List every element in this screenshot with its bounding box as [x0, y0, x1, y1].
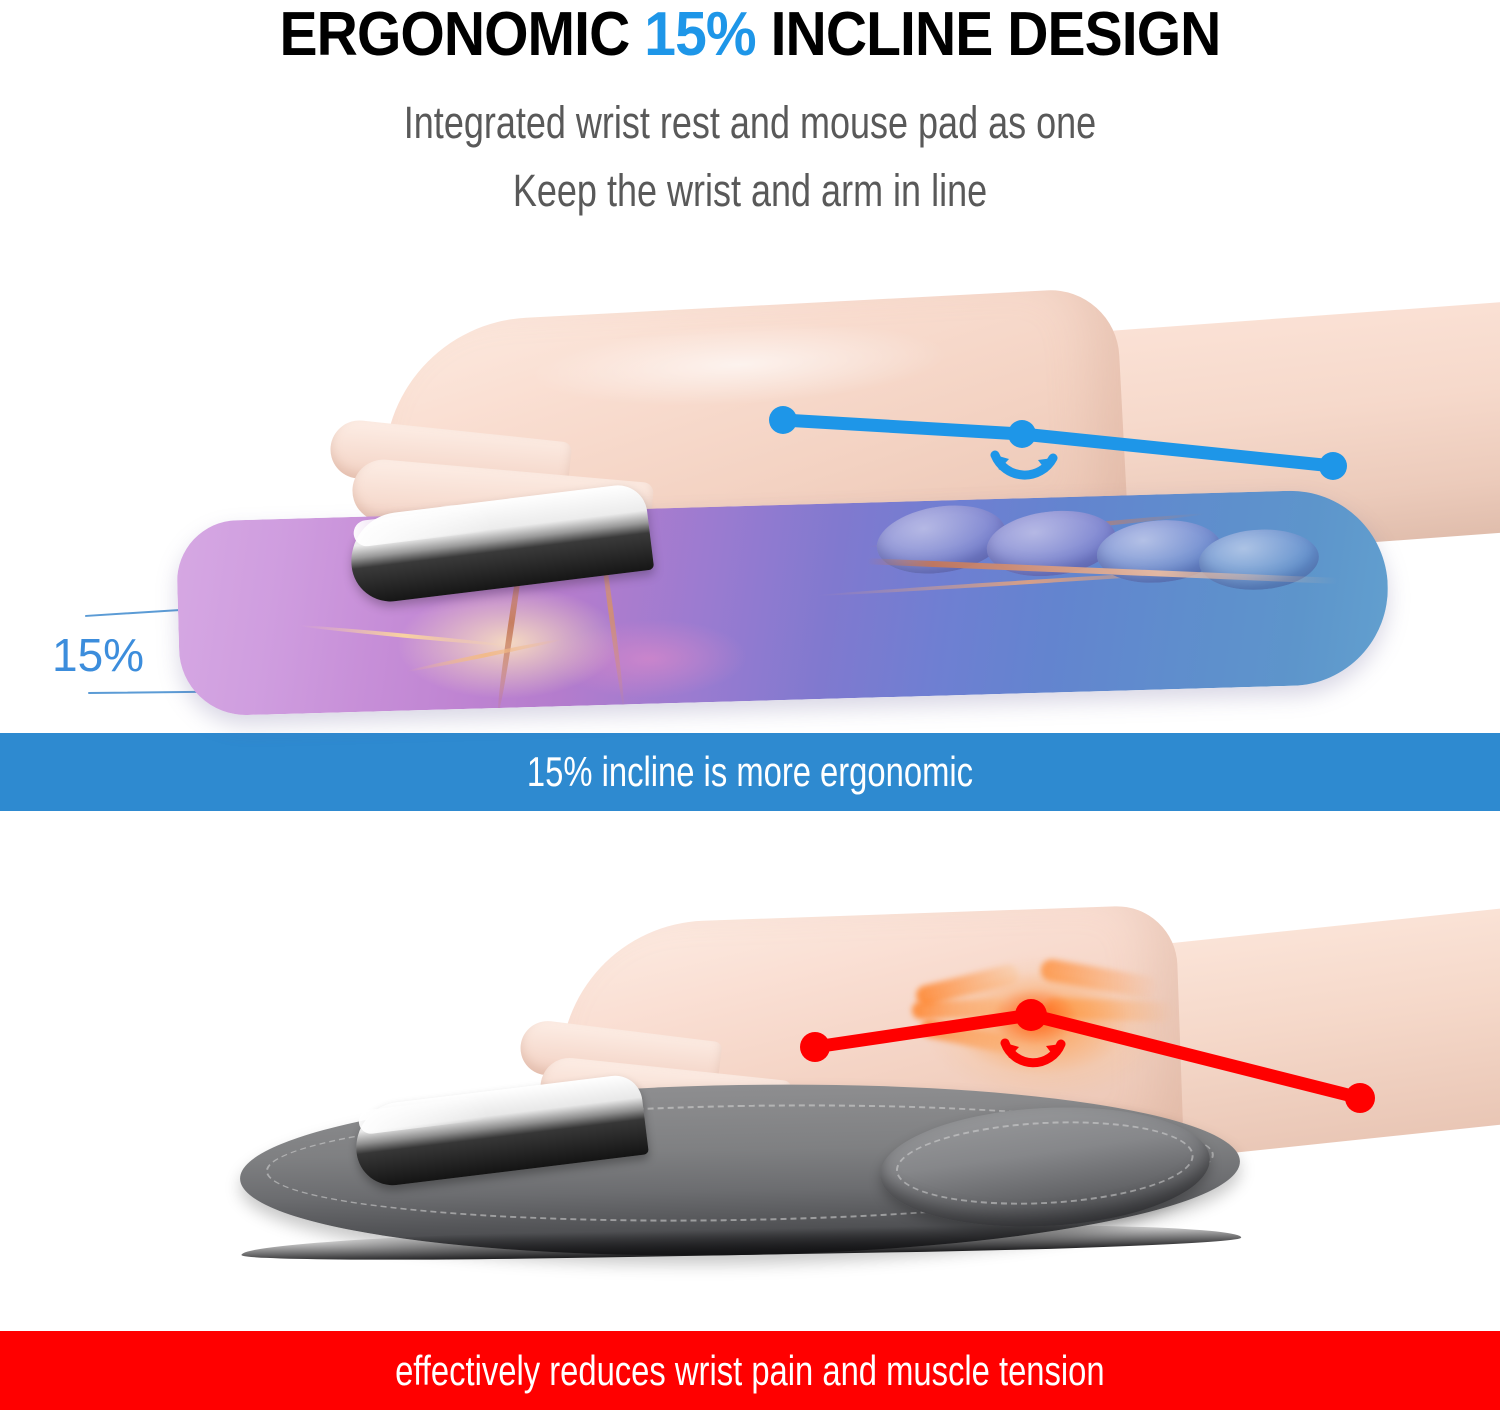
caption-banner-ergonomic: 15% incline is more ergonomic — [0, 733, 1500, 811]
caption-banner-pain: effectively reduces wrist pain and muscl… — [0, 1331, 1500, 1410]
caption-text-pain: effectively reduces wrist pain and muscl… — [395, 1347, 1105, 1395]
subtitle-line-1: Integrated wrist rest and mouse pad as o… — [150, 97, 1350, 149]
pain-ray — [912, 998, 1008, 1019]
headline-post: INCLINE DESIGN — [756, 0, 1221, 69]
product-infographic: ERGONOMIC 15% INCLINE DESIGN Integrated … — [0, 0, 1500, 1410]
incline-label: 15% — [52, 628, 144, 682]
headline-pre: ERGONOMIC — [280, 0, 645, 69]
subtitle-line-2: Keep the wrist and arm in line — [150, 165, 1350, 217]
header: ERGONOMIC 15% INCLINE DESIGN Integrated … — [0, 0, 1500, 240]
headline-accent: 15% — [644, 0, 755, 69]
caption-text-ergonomic: 15% incline is more ergonomic — [527, 748, 973, 796]
page-title: ERGONOMIC 15% INCLINE DESIGN — [60, 0, 1440, 70]
marble-vein — [299, 624, 508, 648]
